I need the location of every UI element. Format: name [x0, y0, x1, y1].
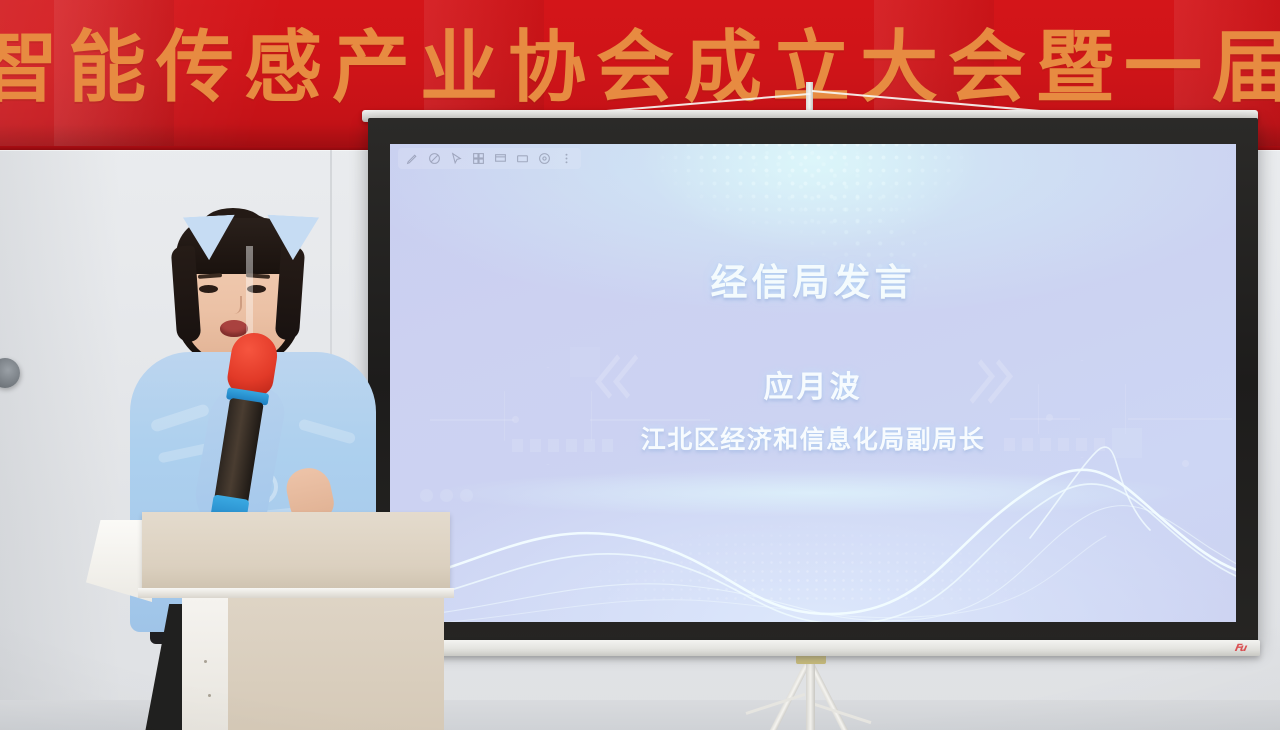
no-sign-icon[interactable] — [428, 152, 441, 165]
screen-projection-area: 经信局发言 应月波 江北区经济和信息化局副局长 — [390, 144, 1236, 622]
podium-desktop-edge — [138, 588, 454, 598]
slide-speaker-role: 江北区经济和信息化局副局长 — [641, 420, 986, 456]
podium-desktop — [142, 512, 450, 590]
speaker-nose — [228, 296, 242, 314]
presenter-toolbar[interactable] — [398, 148, 581, 169]
speaker-eye-left — [199, 285, 218, 293]
screen-bottom-bar: Fu — [360, 640, 1260, 656]
podium — [86, 508, 476, 730]
podium-column — [228, 598, 444, 730]
grid-icon[interactable] — [472, 152, 485, 165]
slide-speaker-name: 应月波 — [764, 362, 863, 406]
podium-screw-lower — [208, 694, 211, 697]
presentation-slide: 经信局发言 应月波 江北区经济和信息化局副局长 — [390, 144, 1236, 622]
banner-text: 智能传感产业协会成立大会暨一届一 — [0, 6, 1280, 116]
slide-text-block: 经信局发言 应月波 江北区经济和信息化局副局长 — [390, 144, 1236, 622]
photo-scene: 智能传感产业协会成立大会暨一届一 — [0, 0, 1280, 730]
speaker-hair-side-right — [275, 245, 305, 340]
podium-screw-upper — [204, 660, 207, 663]
pen-icon[interactable] — [406, 152, 419, 165]
slide-title: 经信局发言 — [711, 252, 916, 306]
tripod-center-post — [806, 656, 815, 730]
mic-body — [213, 398, 263, 510]
screen-brand-logo: Fu — [1234, 643, 1247, 654]
podium-shadow-panel — [144, 604, 186, 730]
cursor-icon[interactable] — [450, 152, 463, 165]
podium-column-side — [182, 598, 228, 730]
rectangle-icon[interactable] — [516, 152, 529, 165]
projection-screen: 经信局发言 应月波 江北区经济和信息化局副局长 — [368, 118, 1258, 646]
more-options-icon[interactable] — [560, 152, 573, 165]
slides-icon[interactable] — [494, 152, 507, 165]
pointer-icon[interactable] — [538, 152, 551, 165]
